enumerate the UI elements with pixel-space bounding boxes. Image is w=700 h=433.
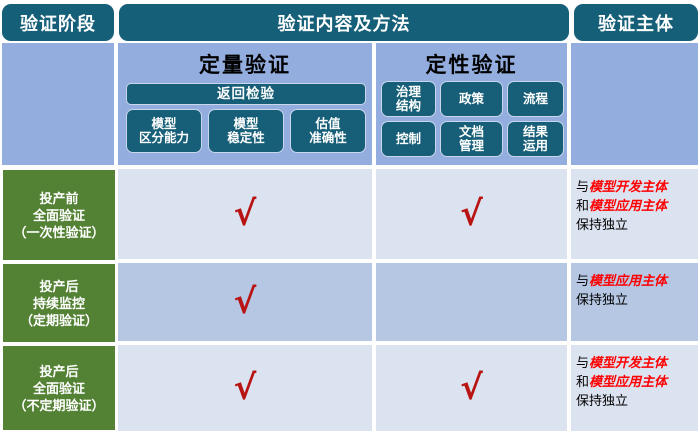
- pill-line-1: 估值: [315, 117, 340, 131]
- cell-row1-qualitative: √: [376, 169, 569, 261]
- validation-matrix-diagram: 验证阶段 验证内容及方法 验证主体 定量验证 返回检验 模型 区分能力 模型 稳…: [0, 0, 700, 433]
- pill-model-stability: 模型 稳定性: [208, 109, 284, 153]
- subject-black: 保持独立: [576, 217, 628, 232]
- pill-result-application: 结果 运用: [507, 121, 564, 157]
- subject-black: 与: [576, 179, 589, 194]
- pill-line-2: 区分能力: [139, 131, 189, 145]
- subject-line: 与模型开发主体: [576, 177, 694, 196]
- subject-line: 与模型应用主体: [576, 271, 694, 290]
- stage-line-2: 全面验证: [33, 207, 85, 224]
- subject-red: 模型开发主体: [589, 355, 667, 370]
- pill-line-2: 准确性: [309, 131, 347, 145]
- stage-line-3: （不定期验证）: [13, 397, 104, 414]
- table-header-row: 验证阶段 验证内容及方法 验证主体: [0, 4, 700, 41]
- subject-line: 保持独立: [576, 391, 694, 410]
- subject-line: 保持独立: [576, 290, 694, 309]
- subject-black: 与: [576, 355, 589, 370]
- table-body: 定量验证 返回检验 模型 区分能力 模型 稳定性 估值 准确性 定性验证 治理 …: [0, 43, 700, 433]
- subject-red: 模型应用主体: [589, 273, 667, 288]
- stage-line-3: （一次性验证）: [13, 224, 104, 241]
- pill-process: 流程: [507, 81, 564, 117]
- stage-line-1: 投产后: [39, 363, 78, 380]
- panel-qualitative: 定性验证 治理 结构 政策 流程 控制 文档 管理 结果 运用: [376, 43, 569, 167]
- pill-line-2: 运用: [523, 139, 548, 153]
- pill-line-2: 管理: [459, 139, 484, 153]
- pill-backtesting: 返回检验: [126, 83, 366, 105]
- subject-black: 和: [576, 198, 589, 213]
- cell-row3-quantitative: √: [118, 345, 374, 431]
- cell-row3-qualitative: √: [376, 345, 569, 431]
- table-row: 投产后 全面验证 （不定期验证）: [2, 345, 116, 431]
- panel-quantitative-title: 定量验证: [118, 49, 372, 79]
- subject-line: 与模型开发主体: [576, 353, 694, 372]
- pill-line-1: 政策: [459, 92, 484, 106]
- pill-line-2: 稳定性: [227, 131, 265, 145]
- subject-line: 和模型应用主体: [576, 372, 694, 391]
- table-row: 投产前 全面验证 （一次性验证）: [2, 169, 116, 261]
- pill-governance-structure: 治理 结构: [381, 81, 436, 117]
- pill-line-1: 治理: [396, 85, 421, 99]
- row0-subject-spacer: [571, 43, 698, 167]
- cell-row1-subject: 与模型开发主体 和模型应用主体 保持独立: [571, 169, 698, 261]
- row0-stage-spacer: [2, 43, 116, 167]
- stage-line-3: （定期验证）: [20, 312, 98, 329]
- stage-line-1: 投产后: [39, 278, 78, 295]
- pill-line-1: 结果: [523, 125, 548, 139]
- cell-row1-quantitative: √: [118, 169, 374, 261]
- pill-line-1: 模型: [233, 117, 258, 131]
- cell-row2-qualitative: [376, 263, 569, 343]
- cell-row2-quantitative: √: [118, 263, 374, 343]
- pill-line-1: 文档: [459, 125, 484, 139]
- pill-policy: 政策: [440, 81, 503, 117]
- panel-qualitative-title: 定性验证: [376, 49, 567, 79]
- pill-line-2: 结构: [396, 99, 421, 113]
- header-cell-subject: 验证主体: [574, 4, 698, 41]
- stage-line-2: 持续监控: [33, 295, 85, 312]
- pill-valuation-accuracy: 估值 准确性: [290, 109, 366, 153]
- subject-red: 模型应用主体: [589, 374, 667, 389]
- pill-model-discrimination: 模型 区分能力: [126, 109, 202, 153]
- pill-line-1: 控制: [396, 132, 421, 146]
- subject-black: 保持独立: [576, 292, 628, 307]
- subject-red: 模型开发主体: [589, 179, 667, 194]
- stage-line-1: 投产前: [39, 190, 78, 207]
- pill-control: 控制: [381, 121, 436, 157]
- panel-quantitative: 定量验证 返回检验 模型 区分能力 模型 稳定性 估值 准确性: [118, 43, 374, 167]
- cell-row3-subject: 与模型开发主体 和模型应用主体 保持独立: [571, 345, 698, 431]
- stage-line-2: 全面验证: [33, 380, 85, 397]
- subject-line: 保持独立: [576, 215, 694, 234]
- table-row: 投产后 持续监控 （定期验证）: [2, 263, 116, 343]
- header-cell-stage: 验证阶段: [2, 4, 114, 41]
- subject-black: 保持独立: [576, 393, 628, 408]
- subject-black: 和: [576, 374, 589, 389]
- subject-line: 和模型应用主体: [576, 196, 694, 215]
- subject-black: 与: [576, 273, 589, 288]
- pill-document-management: 文档 管理: [440, 121, 503, 157]
- subject-red: 模型应用主体: [589, 198, 667, 213]
- pill-line-1: 流程: [523, 92, 548, 106]
- cell-row2-subject: 与模型应用主体 保持独立: [571, 263, 698, 343]
- pill-line-1: 模型: [151, 117, 176, 131]
- header-cell-content-method: 验证内容及方法: [119, 4, 569, 41]
